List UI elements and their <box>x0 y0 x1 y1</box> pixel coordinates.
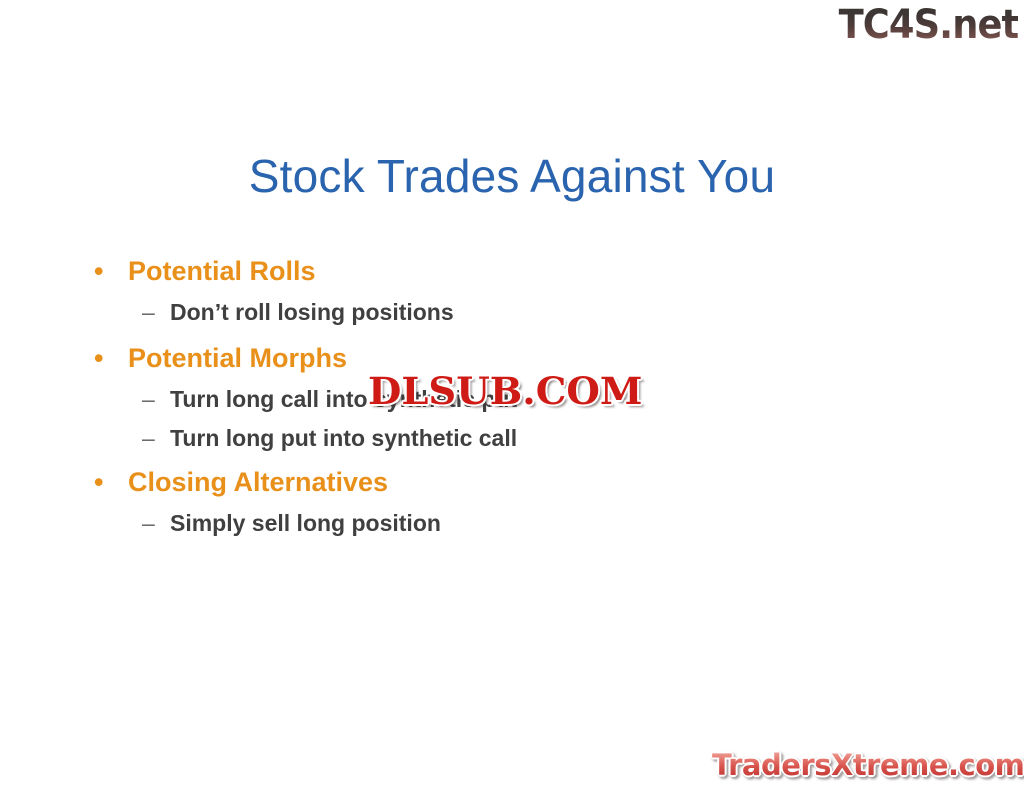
bullet-heading-label: Potential Rolls <box>128 256 316 286</box>
sub-bullet-item: – Don’t roll losing positions <box>88 297 888 327</box>
bullet-dot-icon: • <box>94 465 103 499</box>
bullet-group: • Potential Rolls – Don’t roll losing po… <box>88 254 888 327</box>
slide-title: Stock Trades Against You <box>0 149 1024 203</box>
dlsub-watermark: DLSUB.COM <box>368 371 642 411</box>
bullet-dash-icon: – <box>142 423 155 453</box>
sub-bullet-label: Don’t roll losing positions <box>170 299 454 325</box>
sub-bullet-label: Turn long put into synthetic call <box>170 425 517 451</box>
bullet-heading-label: Potential Morphs <box>128 343 347 373</box>
tradersxtreme-watermark: TradersXtreme.com <box>712 748 1024 782</box>
bullet-heading: • Closing Alternatives <box>88 465 888 499</box>
sub-bullet-item: – Simply sell long position <box>88 508 888 538</box>
bullet-group: • Closing Alternatives – Simply sell lon… <box>88 465 888 538</box>
bullet-heading-label: Closing Alternatives <box>128 467 388 497</box>
tc4s-brand-logo: TC4S.net <box>838 2 1018 48</box>
bullet-dash-icon: – <box>142 297 155 327</box>
bullet-dash-icon: – <box>142 384 155 414</box>
sub-bullet-item: – Turn long put into synthetic call <box>88 423 888 453</box>
bullet-dash-icon: – <box>142 508 155 538</box>
bullet-heading: • Potential Rolls <box>88 254 888 288</box>
presentation-slide: TC4S.net Stock Trades Against You • Pote… <box>0 0 1024 791</box>
sub-bullet-label: Simply sell long position <box>170 510 441 536</box>
bullet-dot-icon: • <box>94 254 103 288</box>
bullet-dot-icon: • <box>94 341 103 375</box>
